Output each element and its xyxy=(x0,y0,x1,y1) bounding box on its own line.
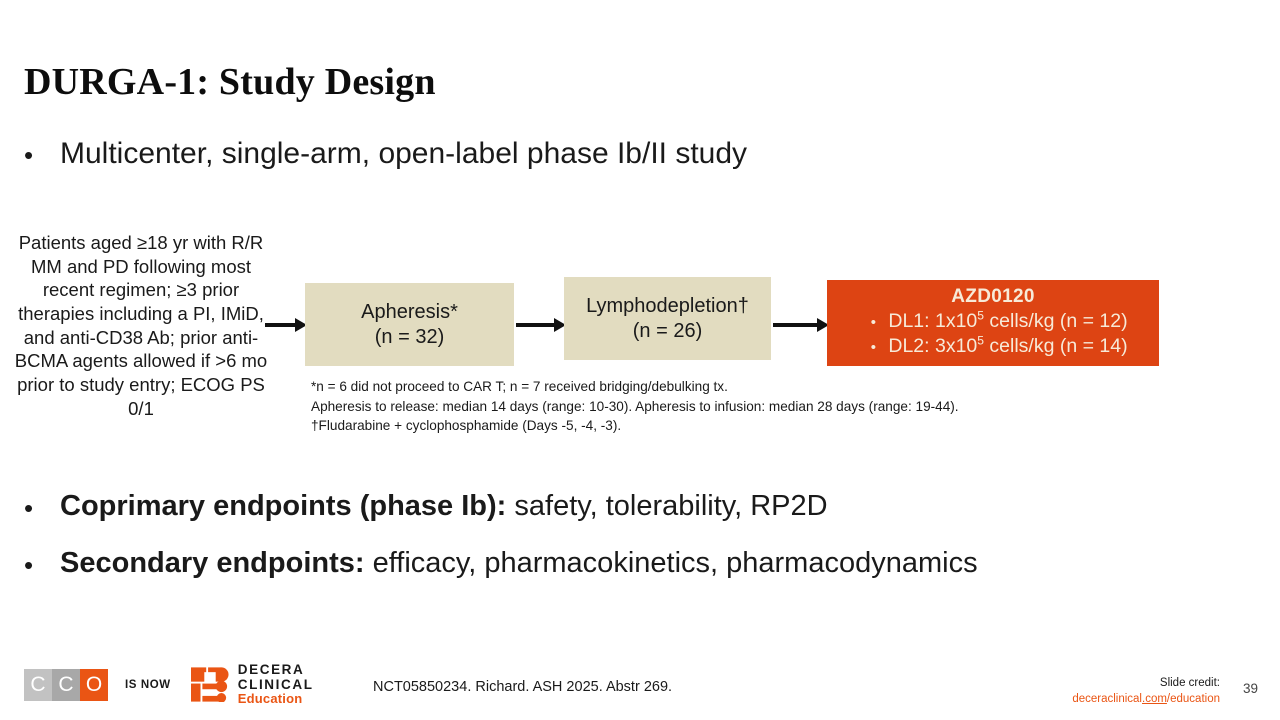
flow-box-lymphodepletion-line2: (n = 26) xyxy=(633,319,702,344)
footnote-line: Apheresis to release: median 14 days (ra… xyxy=(311,397,959,417)
slide-credit: Slide credit: deceraclinical.com/educati… xyxy=(1072,676,1220,707)
arrow-shaft xyxy=(265,323,295,327)
bullet-marker-icon: • xyxy=(24,546,60,578)
dose-exponent: 5 xyxy=(977,308,984,322)
cco-logo-letter-1: C xyxy=(24,669,52,701)
bullet-marker-icon: • xyxy=(24,136,60,168)
is-now-label: IS NOW xyxy=(125,679,171,691)
bullet-marker-icon: • xyxy=(24,489,60,521)
flow-box-apheresis: Apheresis* (n = 32) xyxy=(305,283,514,366)
dose-level-1-text: DL1: 1x105 cells/kg (n = 12) xyxy=(888,309,1127,335)
slide-credit-link[interactable]: deceraclinical.com/education xyxy=(1072,692,1220,708)
endpoint-coprimary-lead: Coprimary endpoints (phase Ib): xyxy=(60,490,506,522)
dose-bullet-icon: • xyxy=(858,313,888,333)
cco-logo: C C O xyxy=(24,669,108,701)
decera-line-2: CLINICAL xyxy=(238,678,314,693)
slide-credit-label: Slide credit: xyxy=(1072,676,1220,692)
flow-box-lymphodepletion-line1: Lymphodepletion† xyxy=(586,294,749,319)
endpoint-secondary-lead: Secondary endpoints: xyxy=(60,547,365,579)
citation-text: NCT05850234. Richard. ASH 2025. Abstr 26… xyxy=(373,679,672,695)
endpoint-secondary-text: Secondary endpoints: efficacy, pharmacok… xyxy=(60,546,978,581)
endpoint-secondary: • Secondary endpoints: efficacy, pharmac… xyxy=(24,546,978,581)
page-number: 39 xyxy=(1243,681,1258,696)
intro-bullet: • Multicenter, single-arm, open-label ph… xyxy=(24,136,747,172)
decera-logo: DECERA CLINICAL Education xyxy=(191,663,314,706)
dose-level-1: • DL1: 1x105 cells/kg (n = 12) xyxy=(858,309,1127,335)
arrow-shaft xyxy=(773,323,817,327)
dose-bullet-icon: • xyxy=(858,338,888,358)
dose-level-2-text: DL2: 3x105 cells/kg (n = 14) xyxy=(888,334,1127,360)
footnote-line: *n = 6 did not proceed to CAR T; n = 7 r… xyxy=(311,377,959,397)
footer-logos: C C O IS NOW DECERA CLINICAL Education xyxy=(24,663,314,706)
flow-box-apheresis-line2: (n = 32) xyxy=(375,325,444,350)
dose-level-2: • DL2: 3x105 cells/kg (n = 14) xyxy=(858,334,1127,360)
page-title: DURGA-1: Study Design xyxy=(24,60,436,104)
decera-mark-icon xyxy=(191,667,229,702)
treatment-title: AZD0120 xyxy=(951,285,1034,309)
footnote-line: †Fludarabine + cyclophosphamide (Days -5… xyxy=(311,416,959,436)
endpoint-coprimary-rest: safety, tolerability, RP2D xyxy=(506,490,827,522)
dose-exponent: 5 xyxy=(977,334,984,348)
arrow-population-to-apheresis xyxy=(265,318,307,331)
endpoint-secondary-rest: efficacy, pharmacokinetics, pharmacodyna… xyxy=(365,547,978,579)
flow-box-lymphodepletion: Lymphodepletion† (n = 26) xyxy=(564,277,771,360)
diagram-footnotes: *n = 6 did not proceed to CAR T; n = 7 r… xyxy=(311,377,959,436)
endpoint-coprimary-text: Coprimary endpoints (phase Ib): safety, … xyxy=(60,489,828,524)
arrow-apheresis-to-lymphodepletion xyxy=(516,318,566,331)
cco-logo-letter-3: O xyxy=(80,669,108,701)
flow-box-apheresis-line1: Apheresis* xyxy=(361,300,458,325)
arrow-lymphodepletion-to-treatment xyxy=(773,318,829,331)
intro-bullet-text: Multicenter, single-arm, open-label phas… xyxy=(60,136,747,172)
endpoint-coprimary: • Coprimary endpoints (phase Ib): safety… xyxy=(24,489,828,524)
decera-line-3: Education xyxy=(238,692,314,706)
decera-wordmark: DECERA CLINICAL Education xyxy=(238,663,314,706)
cco-logo-letter-2: C xyxy=(52,669,80,701)
decera-line-1: DECERA xyxy=(238,663,314,678)
flow-box-treatment: AZD0120 • DL1: 1x105 cells/kg (n = 12) •… xyxy=(827,280,1159,366)
patient-population-text: Patients aged ≥18 yr with R/R MM and PD … xyxy=(6,231,276,420)
arrow-shaft xyxy=(516,323,554,327)
